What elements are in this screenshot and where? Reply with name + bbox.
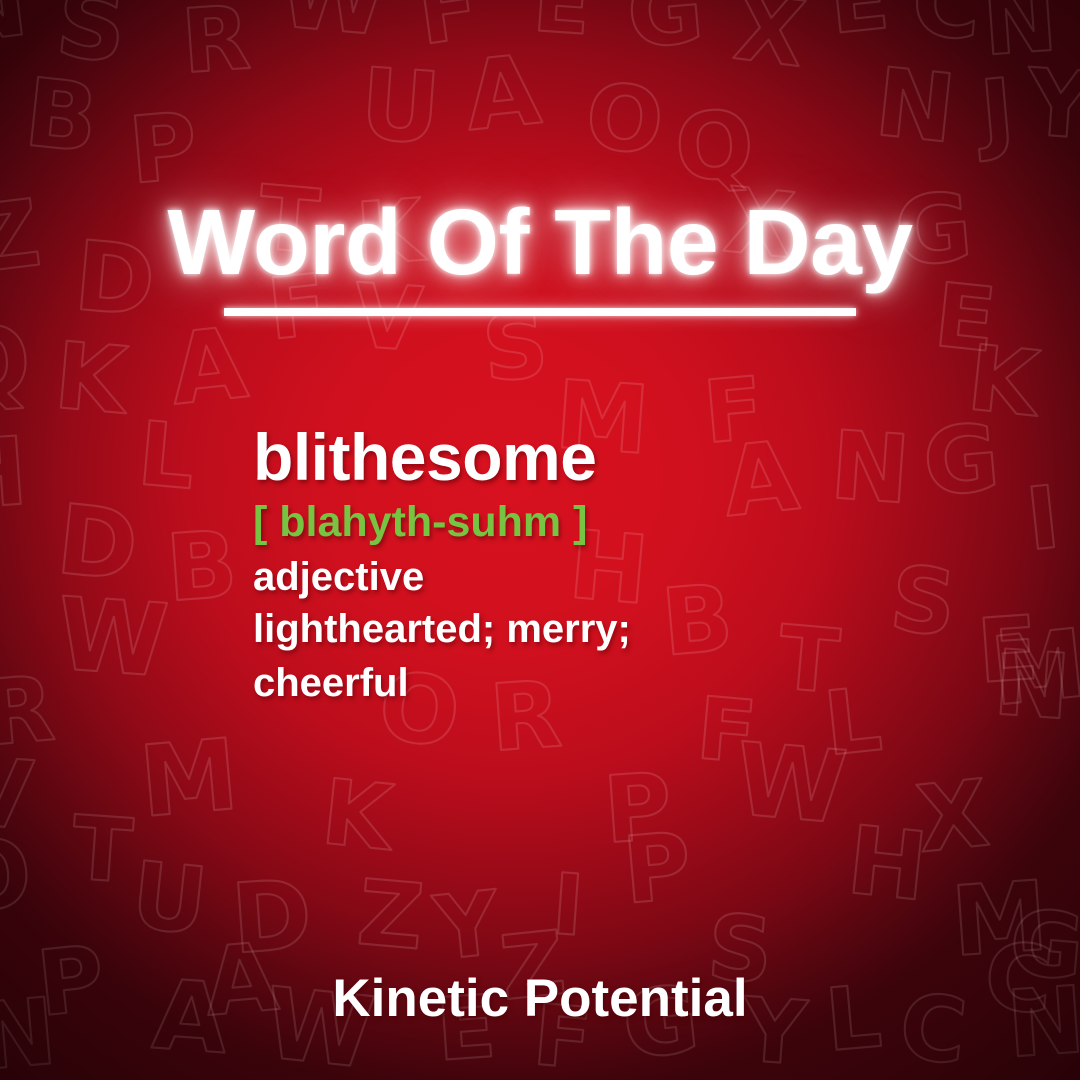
footer: Kinetic Potential (0, 968, 1080, 1029)
word-part-of-speech: adjective (253, 553, 893, 602)
brand-name: Kinetic Potential (332, 968, 747, 1029)
word-definition: lighthearted; merry; cheerful (253, 602, 653, 710)
card-content: Word Of The Day blithesome [ blahyth-suh… (0, 0, 1080, 1080)
word-of-the-day-card: NSRWFEGXECNBPUAOQNJYZTKXGDFVSEQKAMFKHLAN… (0, 0, 1080, 1080)
header: Word Of The Day (0, 196, 1080, 316)
word-pronunciation: [ blahyth-suhm ] (253, 497, 893, 548)
page-title: Word Of The Day (167, 196, 912, 289)
title-underline (224, 308, 856, 316)
word-entry: blithesome [ blahyth-suhm ] adjective li… (253, 424, 893, 710)
word-headword: blithesome (253, 424, 893, 491)
